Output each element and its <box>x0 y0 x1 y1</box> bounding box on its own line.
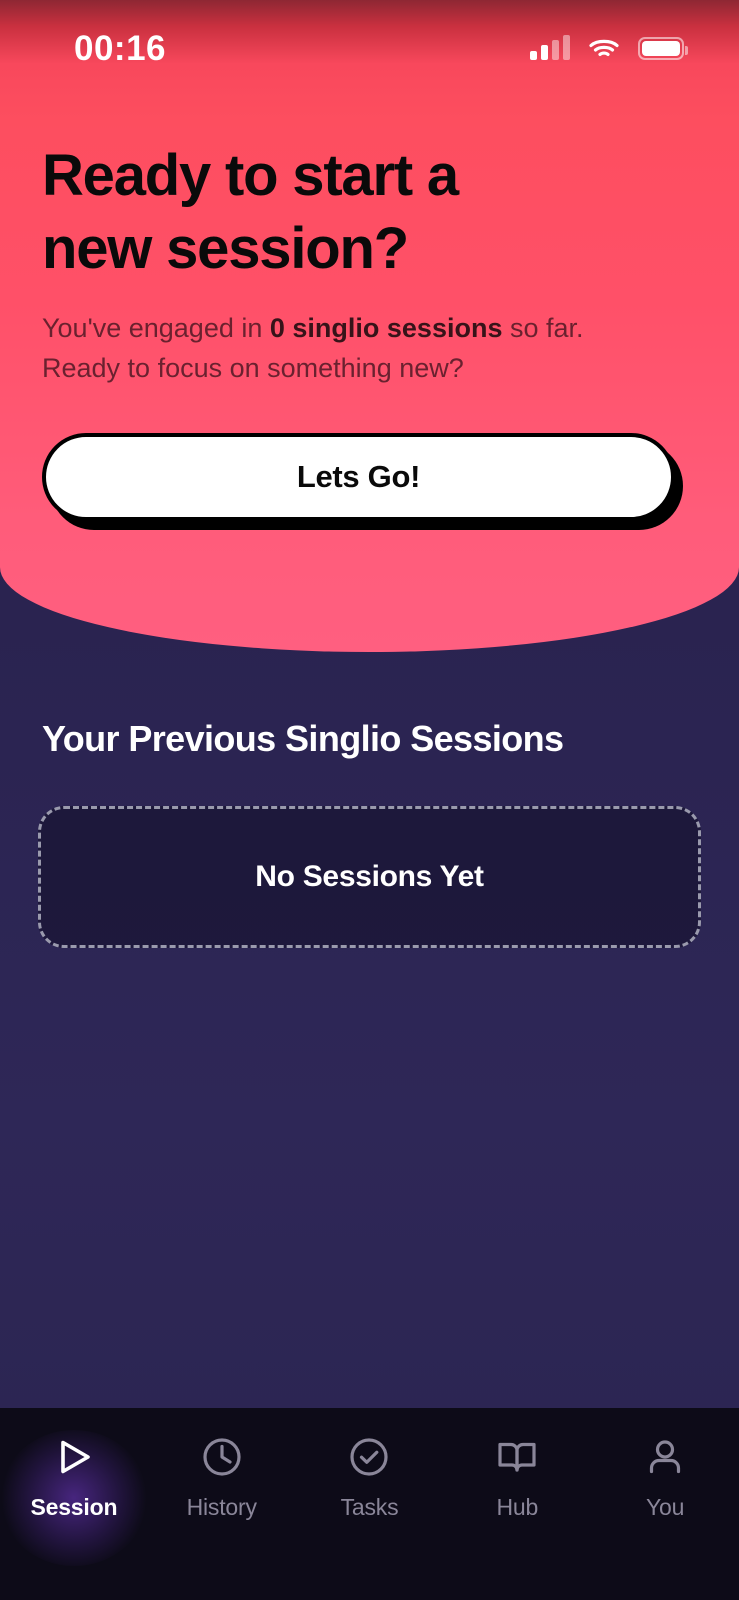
hero-subtitle-line-2: Ready to focus on something new? <box>42 349 697 389</box>
previous-sessions-title: Your Previous Singlio Sessions <box>38 718 701 760</box>
bottom-navigation-bar: Session History Tasks <box>0 1408 739 1600</box>
nav-item-you[interactable]: You <box>591 1434 739 1600</box>
check-circle-icon <box>346 1434 392 1480</box>
app-screen: 00:16 Ready to start a new session? You'… <box>0 0 739 1600</box>
person-icon <box>642 1434 688 1480</box>
page-title: Ready to start a new session? <box>42 140 602 285</box>
page-title-line-2: new session? <box>42 213 602 286</box>
nav-item-session[interactable]: Session <box>0 1434 148 1600</box>
hero-subtitle: You've engaged in 0 singlio sessions so … <box>42 309 697 389</box>
clock-icon <box>199 1434 245 1480</box>
nav-item-history[interactable]: History <box>148 1434 296 1600</box>
previous-sessions-section: Your Previous Singlio Sessions No Sessio… <box>0 652 739 948</box>
nav-label-session: Session <box>30 1494 117 1521</box>
lets-go-button-wrapper: Lets Go! <box>42 433 675 525</box>
no-sessions-empty-card: No Sessions Yet <box>38 806 701 948</box>
page-title-line-1: Ready to start a <box>42 140 602 213</box>
nav-item-tasks[interactable]: Tasks <box>296 1434 444 1600</box>
play-icon <box>51 1434 97 1480</box>
session-count-highlight: 0 singlio sessions <box>270 313 503 343</box>
no-sessions-label: No Sessions Yet <box>255 860 483 894</box>
nav-label-you: You <box>646 1494 684 1521</box>
nav-item-hub[interactable]: Hub <box>443 1434 591 1600</box>
nav-label-tasks: Tasks <box>341 1494 399 1521</box>
hero-section: Ready to start a new session? You've eng… <box>0 0 739 525</box>
subtitle-suffix: so far. <box>502 313 583 343</box>
subtitle-prefix: You've engaged in <box>42 313 270 343</box>
open-book-icon <box>494 1434 540 1480</box>
lets-go-button[interactable]: Lets Go! <box>42 433 675 521</box>
hero-subtitle-line-1: You've engaged in 0 singlio sessions so … <box>42 309 697 349</box>
nav-label-history: History <box>187 1494 257 1521</box>
nav-label-hub: Hub <box>496 1494 538 1521</box>
